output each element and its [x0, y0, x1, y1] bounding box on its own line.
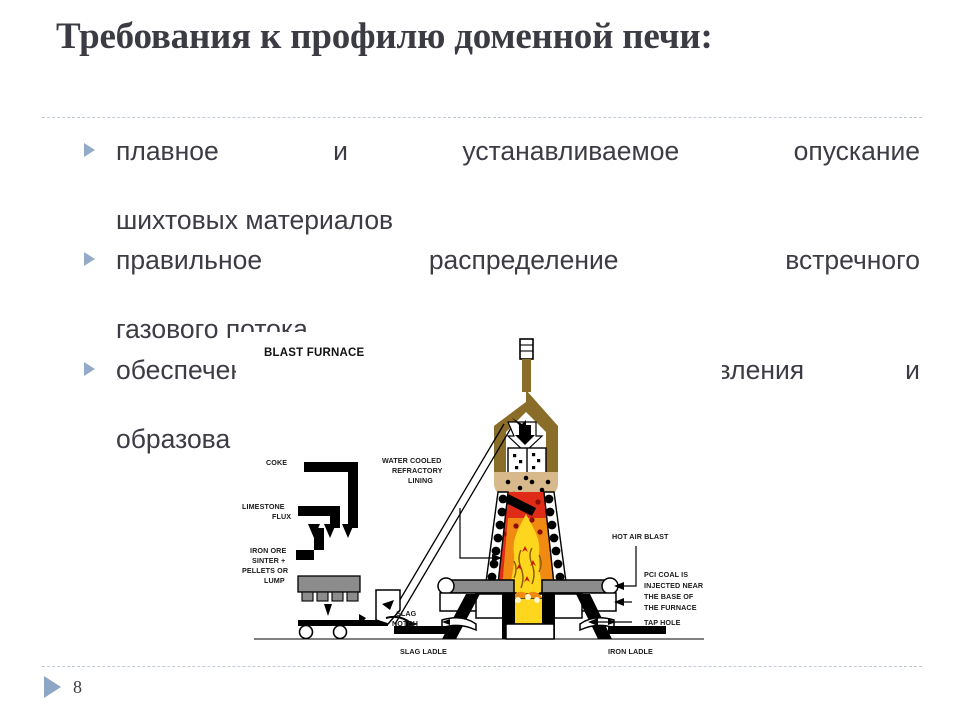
bullet-triangle-icon: [84, 252, 95, 266]
bullet-triangle-icon: [84, 362, 95, 376]
label-iron-ore-2: SINTER +: [252, 556, 285, 565]
label-pci-4: THE FURNACE: [644, 603, 697, 612]
blast-furnace-diagram: BLAST FURNACE: [236, 332, 722, 666]
label-tap-hole: TAP HOLE: [644, 618, 681, 627]
label-iron-ladle: IRON LADLE: [608, 647, 653, 656]
label-pci-2: INJECTED NEAR: [644, 581, 704, 590]
page-number: 8: [44, 676, 82, 698]
label-slag-ladle: SLAG LADLE: [400, 647, 447, 656]
diagram-title: BLAST FURNACE: [264, 347, 364, 359]
bullet-triangle-icon: [84, 143, 95, 157]
iron-ladle-shape: [608, 626, 666, 634]
label-limestone-flux-2: FLUX: [272, 512, 291, 521]
header-divider: [42, 117, 922, 118]
page-number-value: 8: [73, 677, 82, 698]
label-iron-ore-1: IRON ORE: [250, 546, 286, 555]
list-item-line1: правильное распределение встречного: [116, 243, 920, 312]
label-slag-notch-2: NOTCH: [392, 619, 418, 628]
label-iron-ore-3: PELLETS OR: [242, 566, 289, 575]
list-item-line2: шихтовых материалов: [116, 203, 920, 237]
label-limestone-flux-1: LIMESTONE: [242, 502, 285, 511]
label-pci-1: PCI COAL IS: [644, 570, 688, 579]
label-lining-1: WATER COOLED: [382, 456, 441, 465]
footer-divider: [42, 666, 922, 667]
label-coke: COKE: [266, 458, 287, 467]
page-marker-triangle-icon: [44, 676, 61, 698]
label-lining-2: REFRACTORY: [392, 466, 443, 475]
label-pci-3: THE BASE OF: [644, 592, 694, 601]
page-title: Требования к профилю доменной печи:: [56, 16, 916, 57]
label-iron-ore-4: LUMP: [264, 576, 285, 585]
list-item: плавное и устанавливаемое опускание шихт…: [78, 134, 920, 237]
label-hot-air-blast: HOT AIR BLAST: [612, 532, 669, 541]
slide-canvas: Требования к профилю доменной печи: плав…: [0, 0, 960, 720]
label-slag-notch-1: SLAG: [396, 609, 417, 618]
list-item-line1: плавное и устанавливаемое опускание: [116, 134, 920, 203]
label-lining-3: LINING: [408, 476, 433, 485]
